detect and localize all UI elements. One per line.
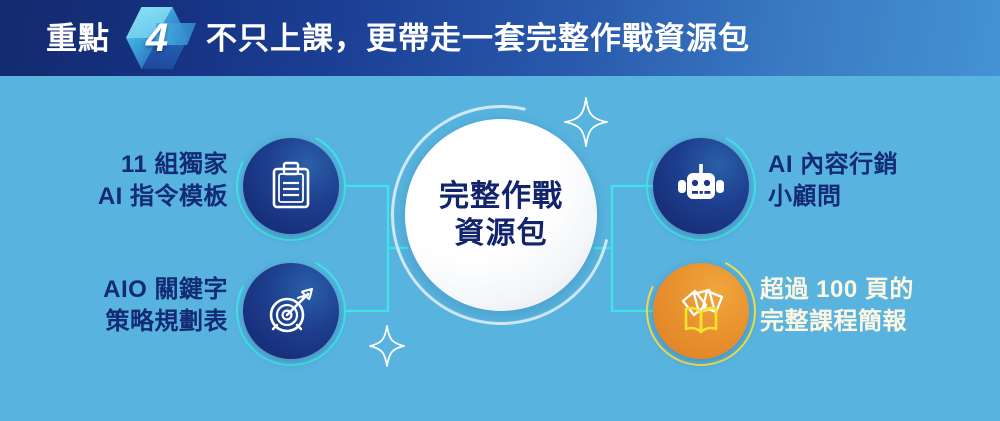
node-keywords xyxy=(243,263,339,359)
header-title: 不只上課，更帶走一套完整作戰資源包 xyxy=(206,23,750,54)
label-slides: 超過 100 頁的 完整課程簡報 xyxy=(760,274,970,338)
node-templates xyxy=(243,138,339,234)
clipboard-icon xyxy=(243,138,339,234)
label-slides-line1: 超過 100 頁的 xyxy=(760,274,970,306)
header-band: 重點 4 不只上課，更帶走一套完整作戰資源包 xyxy=(0,0,1000,76)
center-title-line2: 資源包 xyxy=(455,219,548,249)
node-advisor xyxy=(653,138,749,234)
diagram-stage: 完整作戰 資源包 xyxy=(0,76,1000,421)
keypoint-number-badge: 4 xyxy=(120,5,194,71)
label-advisor-line1: AI 內容行銷 xyxy=(768,149,968,181)
center-title-line1: 完整作戰 xyxy=(439,182,563,212)
robot-icon xyxy=(653,138,749,234)
label-advisor: AI 內容行銷 小顧問 xyxy=(768,149,968,213)
label-slides-line2: 完整課程簡報 xyxy=(760,306,970,338)
header-keypoint-label: 重點 xyxy=(46,23,110,54)
sparkle-star-icon-bottom xyxy=(368,324,406,373)
infographic-canvas: 重點 4 不只上課，更帶走一套完整作戰資源包 xyxy=(0,0,1000,421)
label-templates: 11 組獨家 AI 指令模板 xyxy=(58,149,228,213)
label-keywords-line1: AIO 關鍵字 xyxy=(58,274,228,306)
label-keywords-line2: 策略規劃表 xyxy=(58,306,228,338)
center-disc: 完整作戰 資源包 xyxy=(405,119,597,311)
label-advisor-line2: 小顧問 xyxy=(768,181,968,213)
target-icon xyxy=(243,263,339,359)
label-templates-line2: AI 指令模板 xyxy=(58,181,228,213)
label-keywords: AIO 關鍵字 策略規劃表 xyxy=(58,274,228,338)
center-node: 完整作戰 資源包 xyxy=(405,119,597,311)
badge-number-text: 4 xyxy=(120,5,194,71)
book-cards-icon xyxy=(653,263,749,359)
node-slides xyxy=(653,263,749,359)
label-templates-line1: 11 組獨家 xyxy=(58,149,228,181)
